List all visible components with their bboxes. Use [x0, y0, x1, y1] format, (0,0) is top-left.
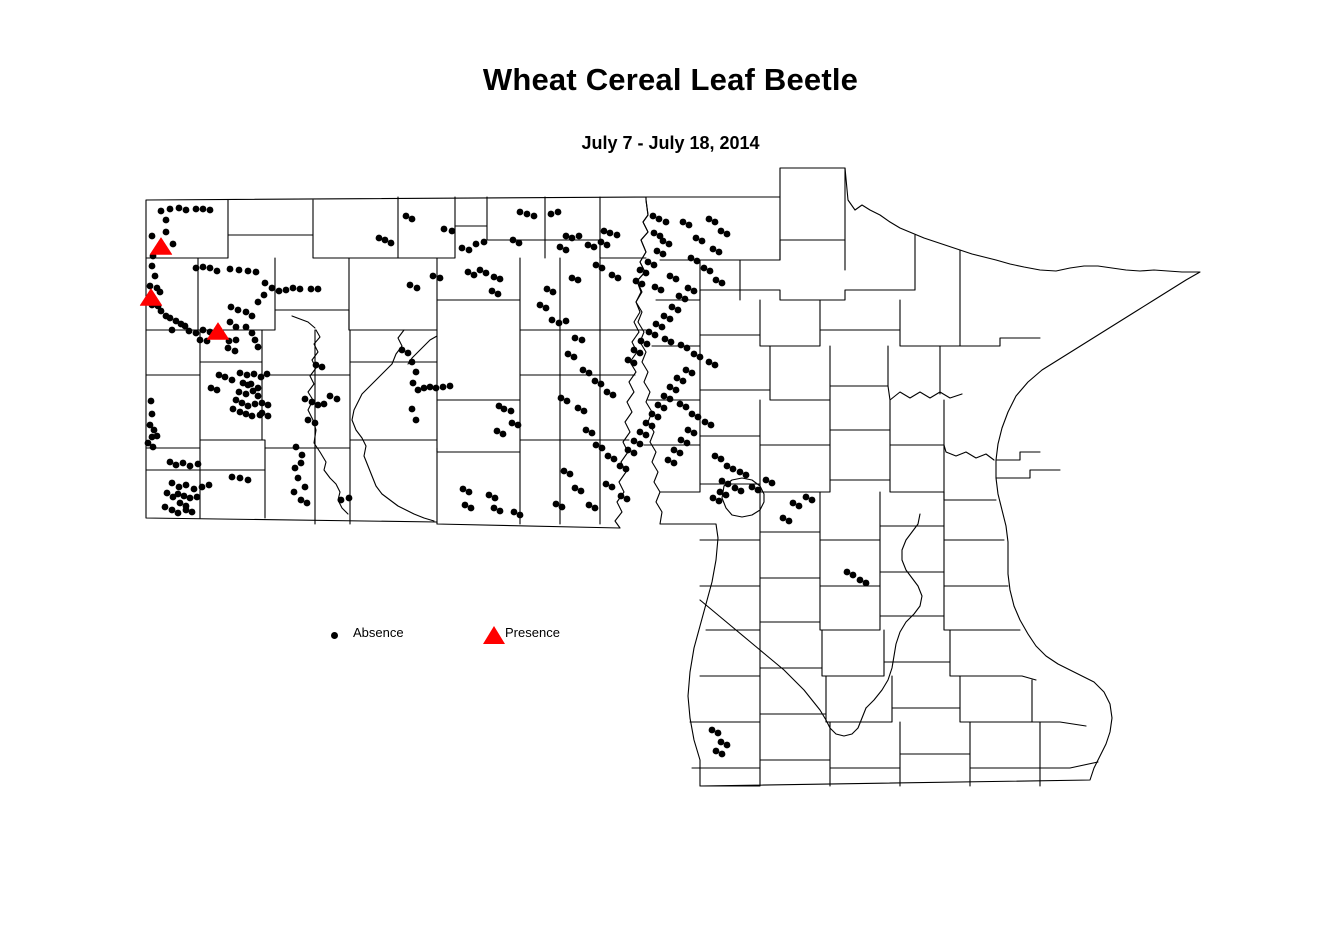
absence-marker — [719, 751, 726, 758]
absence-marker — [206, 482, 213, 489]
absence-marker — [167, 206, 174, 213]
absence-marker — [517, 209, 524, 216]
absence-marker — [661, 393, 668, 400]
absence-marker — [195, 461, 202, 468]
absence-marker — [685, 285, 692, 292]
absence-marker — [243, 309, 250, 316]
absence-marker — [149, 233, 156, 240]
absence-marker — [465, 269, 472, 276]
absence-marker — [297, 286, 304, 293]
absence-marker — [170, 241, 177, 248]
absence-marker — [214, 268, 221, 275]
map-page: Wheat Cereal Leaf Beetle July 7 - July 1… — [0, 0, 1341, 926]
absence-marker — [309, 399, 316, 406]
absence-marker — [183, 507, 190, 514]
absence-marker — [239, 400, 246, 407]
absence-marker — [302, 484, 309, 491]
absence-marker — [167, 315, 174, 322]
absence-marker — [149, 411, 156, 418]
absence-marker — [228, 304, 235, 311]
absence-marker — [549, 317, 556, 324]
absence-marker — [666, 241, 673, 248]
absence-marker — [291, 489, 298, 496]
absence-marker — [214, 387, 221, 394]
absence-marker — [710, 246, 717, 253]
absence-marker — [243, 411, 250, 418]
absence-marker — [237, 475, 244, 482]
absence-marker — [559, 504, 566, 511]
absence-marker — [410, 380, 417, 387]
absence-marker — [313, 362, 320, 369]
absence-marker — [707, 268, 714, 275]
absence-marker — [712, 453, 719, 460]
absence-marker — [572, 485, 579, 492]
absence-marker — [724, 231, 731, 238]
absence-marker — [637, 350, 644, 357]
absence-marker — [259, 400, 266, 407]
absence-marker — [706, 359, 713, 366]
absence-marker — [565, 351, 572, 358]
absence-dot-icon — [331, 632, 338, 639]
absence-marker — [227, 319, 234, 326]
absence-marker — [468, 505, 475, 512]
legend-label-absence: Absence — [353, 625, 404, 640]
absence-marker — [150, 444, 157, 451]
absence-marker — [656, 216, 663, 223]
absence-marker — [655, 414, 662, 421]
absence-marker — [650, 213, 657, 220]
absence-marker — [169, 507, 176, 514]
absence-marker — [592, 378, 599, 385]
absence-marker — [688, 255, 695, 262]
absence-marker — [147, 283, 154, 290]
absence-marker — [680, 378, 687, 385]
absence-marker — [248, 381, 255, 388]
absence-marker — [689, 370, 696, 377]
absence-marker — [338, 497, 345, 504]
absence-marker — [601, 228, 608, 235]
absence-marker — [200, 206, 207, 213]
absence-marker — [637, 267, 644, 274]
absence-marker — [644, 341, 651, 348]
absence-marker — [264, 371, 271, 378]
absence-marker — [717, 489, 724, 496]
absence-marker — [850, 572, 857, 579]
absence-marker — [447, 383, 454, 390]
absence-marker — [667, 273, 674, 280]
absence-marker — [575, 405, 582, 412]
absence-marker — [677, 401, 684, 408]
absence-marker — [292, 465, 299, 472]
absence-marker — [430, 273, 437, 280]
absence-marker — [415, 387, 422, 394]
absence-marker — [660, 251, 667, 258]
absence-marker — [623, 466, 630, 473]
absence-marker — [624, 496, 631, 503]
absence-marker — [593, 262, 600, 269]
absence-marker — [437, 275, 444, 282]
absence-marker — [200, 327, 207, 334]
absence-marker — [645, 259, 652, 266]
absence-marker — [186, 328, 193, 335]
absence-marker — [265, 402, 272, 409]
absence-marker — [662, 336, 669, 343]
absence-marker — [486, 492, 493, 499]
absence-marker — [796, 503, 803, 510]
absence-marker — [167, 459, 174, 466]
absence-marker — [334, 396, 341, 403]
absence-marker — [460, 486, 467, 493]
absence-marker — [500, 431, 507, 438]
absence-marker — [589, 430, 596, 437]
absence-marker — [222, 374, 229, 381]
absence-marker — [235, 307, 242, 314]
absence-marker — [173, 462, 180, 469]
absence-marker — [659, 324, 666, 331]
absence-marker — [477, 267, 484, 274]
absence-marker — [569, 235, 576, 242]
absence-marker — [682, 296, 689, 303]
absence-marker — [571, 354, 578, 361]
absence-marker — [702, 419, 709, 426]
absence-marker — [152, 273, 159, 280]
absence-marker — [678, 437, 685, 444]
absence-marker — [660, 238, 667, 245]
absence-marker — [691, 430, 698, 437]
absence-marker — [809, 497, 816, 504]
absence-marker — [236, 267, 243, 274]
absence-marker — [170, 494, 177, 501]
absence-data-points — [145, 205, 870, 758]
absence-marker — [599, 265, 606, 272]
absence-marker — [599, 445, 606, 452]
absence-marker — [803, 494, 810, 501]
absence-marker — [693, 235, 700, 242]
absence-marker — [609, 484, 616, 491]
absence-marker — [497, 508, 504, 515]
absence-marker — [691, 351, 698, 358]
absence-marker — [604, 389, 611, 396]
absence-marker — [604, 242, 611, 249]
absence-marker — [183, 207, 190, 214]
absence-marker — [637, 429, 644, 436]
absence-marker — [295, 475, 302, 482]
absence-marker — [193, 265, 200, 272]
absence-marker — [187, 463, 194, 470]
absence-marker — [305, 417, 312, 424]
absence-marker — [495, 291, 502, 298]
absence-marker — [261, 292, 268, 299]
absence-marker — [409, 406, 416, 413]
absence-marker — [243, 324, 250, 331]
absence-marker — [857, 577, 864, 584]
absence-marker — [719, 478, 726, 485]
absence-marker — [405, 350, 412, 357]
absence-marker — [677, 450, 684, 457]
absence-marker — [414, 285, 421, 292]
absence-marker — [769, 480, 776, 487]
absence-marker — [697, 354, 704, 361]
absence-marker — [227, 266, 234, 273]
absence-marker — [643, 432, 650, 439]
absence-marker — [544, 286, 551, 293]
absence-marker — [298, 460, 305, 467]
absence-marker — [618, 493, 625, 500]
absence-marker — [625, 447, 632, 454]
absence-marker — [399, 347, 406, 354]
absence-marker — [163, 229, 170, 236]
absence-marker — [258, 374, 265, 381]
absence-marker — [164, 490, 171, 497]
absence-marker — [701, 265, 708, 272]
absence-marker — [189, 509, 196, 516]
absence-marker — [564, 398, 571, 405]
absence-marker — [709, 727, 716, 734]
absence-marker — [567, 471, 574, 478]
absence-marker — [466, 489, 473, 496]
absence-marker — [290, 285, 297, 292]
absence-marker — [251, 371, 258, 378]
absence-marker — [409, 216, 416, 223]
absence-marker — [631, 450, 638, 457]
absence-marker — [441, 226, 448, 233]
absence-marker — [715, 730, 722, 737]
absence-marker — [598, 381, 605, 388]
absence-marker — [724, 742, 731, 749]
absence-marker — [581, 408, 588, 415]
absence-marker — [683, 367, 690, 374]
absence-marker — [605, 453, 612, 460]
absence-marker — [603, 481, 610, 488]
absence-marker — [245, 268, 252, 275]
absence-marker — [786, 518, 793, 525]
absence-marker — [654, 248, 661, 255]
absence-marker — [312, 420, 319, 427]
absence-marker — [376, 235, 383, 242]
absence-marker — [558, 395, 565, 402]
absence-marker — [673, 387, 680, 394]
absence-marker — [151, 427, 158, 434]
absence-marker — [718, 739, 725, 746]
absence-marker — [255, 344, 262, 351]
absence-marker — [255, 393, 262, 400]
absence-marker — [308, 286, 315, 293]
absence-marker — [327, 393, 334, 400]
absence-marker — [563, 233, 570, 240]
presence-marker — [150, 238, 172, 255]
absence-marker — [725, 481, 732, 488]
absence-marker — [724, 463, 731, 470]
absence-marker — [169, 327, 176, 334]
absence-marker — [299, 452, 306, 459]
absence-marker — [661, 405, 668, 412]
absence-marker — [625, 357, 632, 364]
absence-marker — [315, 402, 322, 409]
absence-marker — [232, 348, 239, 355]
absence-marker — [713, 748, 720, 755]
absence-marker — [255, 385, 262, 392]
absence-marker — [615, 275, 622, 282]
absence-marker — [501, 406, 508, 413]
absence-marker — [157, 289, 164, 296]
absence-marker — [553, 501, 560, 508]
absence-marker — [237, 370, 244, 377]
absence-marker — [671, 460, 678, 467]
absence-marker — [611, 456, 618, 463]
absence-marker — [237, 409, 244, 416]
absence-marker — [683, 404, 690, 411]
absence-marker — [598, 239, 605, 246]
absence-marker — [283, 287, 290, 294]
absence-marker — [516, 240, 523, 247]
presence-triangle-icon — [483, 626, 505, 644]
absence-marker — [491, 505, 498, 512]
absence-marker — [315, 286, 322, 293]
absence-marker — [304, 500, 311, 507]
absence-marker — [716, 498, 723, 505]
absence-marker — [511, 509, 518, 516]
absence-marker — [667, 316, 674, 323]
absence-marker — [633, 278, 640, 285]
absence-marker — [169, 480, 176, 487]
absence-marker — [253, 269, 260, 276]
absence-marker — [708, 422, 715, 429]
absence-marker — [191, 486, 198, 493]
absence-marker — [187, 495, 194, 502]
absence-marker — [863, 580, 870, 587]
absence-marker — [293, 444, 300, 451]
absence-marker — [718, 228, 725, 235]
absence-marker — [667, 384, 674, 391]
absence-marker — [346, 495, 353, 502]
absence-marker — [517, 512, 524, 519]
absence-marker — [199, 484, 206, 491]
absence-marker — [162, 504, 169, 511]
absence-marker — [617, 463, 624, 470]
absence-marker — [200, 264, 207, 271]
absence-marker — [655, 402, 662, 409]
absence-marker — [427, 384, 434, 391]
absence-marker — [466, 247, 473, 254]
absence-marker — [712, 219, 719, 226]
absence-marker — [738, 488, 745, 495]
absence-marker — [208, 385, 215, 392]
absence-marker — [319, 364, 326, 371]
absence-marker — [569, 275, 576, 282]
absence-marker — [646, 329, 653, 336]
absence-marker — [712, 362, 719, 369]
absence-marker — [265, 413, 272, 420]
absence-marker — [631, 360, 638, 367]
absence-marker — [259, 410, 266, 417]
absence-marker — [710, 495, 717, 502]
absence-marker — [158, 308, 165, 315]
absence-marker — [844, 569, 851, 576]
absence-marker — [716, 249, 723, 256]
absence-marker — [180, 460, 187, 467]
absence-marker — [483, 270, 490, 277]
absence-marker — [193, 206, 200, 213]
absence-marker — [706, 216, 713, 223]
absence-marker — [694, 258, 701, 265]
absence-marker — [557, 244, 564, 251]
absence-marker — [497, 276, 504, 283]
absence-marker — [149, 263, 156, 270]
absence-marker — [631, 438, 638, 445]
absence-marker — [575, 277, 582, 284]
absence-marker — [563, 318, 570, 325]
absence-marker — [678, 342, 685, 349]
absence-marker — [489, 288, 496, 295]
absence-marker — [652, 332, 659, 339]
absence-marker — [667, 396, 674, 403]
absence-marker — [592, 505, 599, 512]
absence-marker — [193, 330, 200, 337]
absence-marker — [252, 337, 259, 344]
absence-marker — [719, 280, 726, 287]
absence-marker — [481, 239, 488, 246]
absence-marker — [649, 411, 656, 418]
absence-marker — [508, 408, 515, 415]
absence-marker — [580, 367, 587, 374]
absence-marker — [262, 280, 269, 287]
absence-marker — [607, 230, 614, 237]
absence-marker — [550, 289, 557, 296]
absence-marker — [576, 233, 583, 240]
absence-marker — [637, 441, 644, 448]
absence-marker — [743, 472, 750, 479]
absence-marker — [233, 324, 240, 331]
absence-marker — [578, 488, 585, 495]
absence-marker — [579, 337, 586, 344]
absence-marker — [585, 242, 592, 249]
absence-marker — [675, 307, 682, 314]
absence-marker — [583, 427, 590, 434]
absence-marker — [433, 385, 440, 392]
absence-marker — [243, 391, 250, 398]
absence-marker — [249, 413, 256, 420]
absence-marker — [510, 237, 517, 244]
absence-marker — [609, 272, 616, 279]
absence-marker — [176, 205, 183, 212]
absence-marker — [236, 389, 243, 396]
absence-marker — [302, 396, 309, 403]
absence-marker — [245, 477, 252, 484]
absence-marker — [737, 469, 744, 476]
absence-marker — [713, 277, 720, 284]
absence-marker — [638, 338, 645, 345]
absence-marker — [730, 466, 737, 473]
absence-marker — [298, 497, 305, 504]
absence-marker — [691, 288, 698, 295]
absence-marker — [631, 347, 638, 354]
absence-marker — [255, 299, 262, 306]
absence-marker — [194, 494, 201, 501]
absence-marker — [233, 397, 240, 404]
absence-marker — [676, 293, 683, 300]
absence-marker — [591, 244, 598, 251]
legend-label-presence: Presence — [505, 625, 560, 640]
absence-marker — [207, 265, 214, 272]
absence-marker — [382, 237, 389, 244]
absence-marker — [561, 468, 568, 475]
absence-marker — [269, 285, 276, 292]
absence-marker — [653, 321, 660, 328]
absence-marker — [649, 423, 656, 430]
absence-marker — [230, 406, 237, 413]
absence-marker — [148, 398, 155, 405]
absence-marker — [684, 345, 691, 352]
